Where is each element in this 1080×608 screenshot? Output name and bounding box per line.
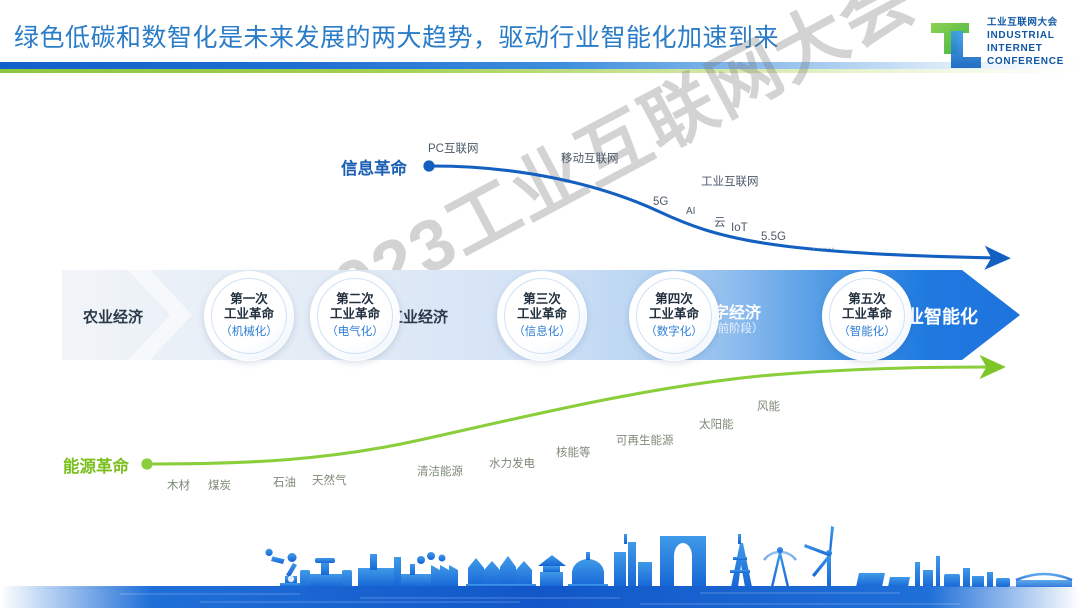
circle-line1: 第一次: [205, 292, 293, 307]
curve-label-mobile-internet: 移动互联网: [561, 150, 619, 166]
circle-text: 第二次 工业革命 （电气化）: [311, 292, 399, 340]
circle-text: 第四次 工业革命 （数字化）: [630, 292, 718, 340]
curve-label-ai: AI: [686, 206, 695, 217]
curve-label-iot: IoT: [731, 222, 748, 234]
curve-label-industrial-internet: 工业互联网: [701, 173, 759, 189]
circle-line2: 工业革命: [311, 307, 399, 322]
timeline-circle-third-revolution[interactable]: 第三次 工业革命 （信息化）: [497, 271, 587, 361]
curve-label-ellipsis: ……: [812, 240, 835, 252]
circle-line1: 第二次: [311, 292, 399, 307]
logo-mark-icon: [929, 18, 983, 70]
energy-revolution-label: 能源革命: [63, 453, 129, 477]
curve-label-nuclear: 核能等: [556, 444, 591, 460]
page-title: 绿色低碳和数智化是未来发展的两大趋势，驱动行业智能化加速到来: [14, 18, 779, 54]
circle-line2: 工业革命: [823, 307, 911, 322]
curve-label-renewable: 可再生能源: [616, 432, 674, 448]
circle-sub: （电气化）: [311, 325, 399, 340]
curve-label-pc-internet: PC互联网: [428, 140, 478, 156]
circle-sub: （机械化）: [205, 325, 293, 340]
circle-line2: 工业革命: [205, 307, 293, 322]
logo-text-line1: INDUSTRIAL: [987, 29, 1071, 42]
circle-text: 第五次 工业革命 （智能化）: [823, 292, 911, 340]
circle-line1: 第四次: [630, 292, 718, 307]
curve-label-5g: 5G: [653, 196, 668, 208]
timeline-circle-fourth-revolution[interactable]: 第四次 工业革命 （数字化）: [629, 271, 719, 361]
skyline-illustration-icon: [0, 512, 1080, 608]
circle-line2: 工业革命: [630, 307, 718, 322]
logo-text-line3: CONFERENCE: [987, 55, 1071, 68]
logo-text-cn: 工业互联网大会: [987, 17, 1071, 29]
circle-sub: （数字化）: [630, 325, 718, 340]
curve-label-cloud: 云: [714, 214, 726, 230]
circle-sub: （信息化）: [498, 325, 586, 340]
header-rule-blue: [0, 62, 1080, 69]
conference-logo: 工业互联网大会 INDUSTRIAL INTERNET CONFERENCE: [929, 14, 1071, 76]
circle-line1: 第三次: [498, 292, 586, 307]
logo-text-line2: INTERNET: [987, 42, 1071, 55]
circle-text: 第三次 工业革命 （信息化）: [498, 292, 586, 340]
curve-label-wind: 风能: [757, 398, 780, 414]
info-revolution-label: 信息革命: [341, 155, 407, 179]
curve-label-clean-energy: 清洁能源: [417, 463, 463, 479]
slide-canvas: 绿色低碳和数智化是未来发展的两大趋势，驱动行业智能化加速到来 工业互联网大会 I…: [0, 0, 1080, 608]
timeline-circle-second-revolution[interactable]: 第二次 工业革命 （电气化）: [310, 271, 400, 361]
circle-line2: 工业革命: [498, 307, 586, 322]
circle-line1: 第五次: [823, 292, 911, 307]
header-rule-green: [0, 69, 1080, 73]
timeline-banner: 农业经济 工业经济 数字经济 （当前阶段） 行业智能化 第一次 工业革命 （机械…: [62, 270, 1020, 360]
timeline-label-agricultural: 农业经济: [70, 306, 156, 327]
curve-label-solar: 太阳能: [699, 416, 734, 432]
curve-label-oil: 石油: [273, 474, 296, 490]
circle-sub: （智能化）: [823, 325, 911, 340]
curve-label-wood: 木材: [167, 477, 190, 493]
circle-text: 第一次 工业革命 （机械化）: [205, 292, 293, 340]
curve-label-hydropower: 水力发电: [489, 455, 535, 471]
footer-skyline: [0, 512, 1080, 608]
curve-label-coal: 煤炭: [208, 477, 231, 493]
timeline-circle-first-revolution[interactable]: 第一次 工业革命 （机械化）: [204, 271, 294, 361]
timeline-circle-fifth-revolution[interactable]: 第五次 工业革命 （智能化）: [822, 271, 912, 361]
curve-label-natural-gas: 天然气: [312, 472, 347, 488]
curve-label-55g: 5.5G: [761, 231, 786, 243]
